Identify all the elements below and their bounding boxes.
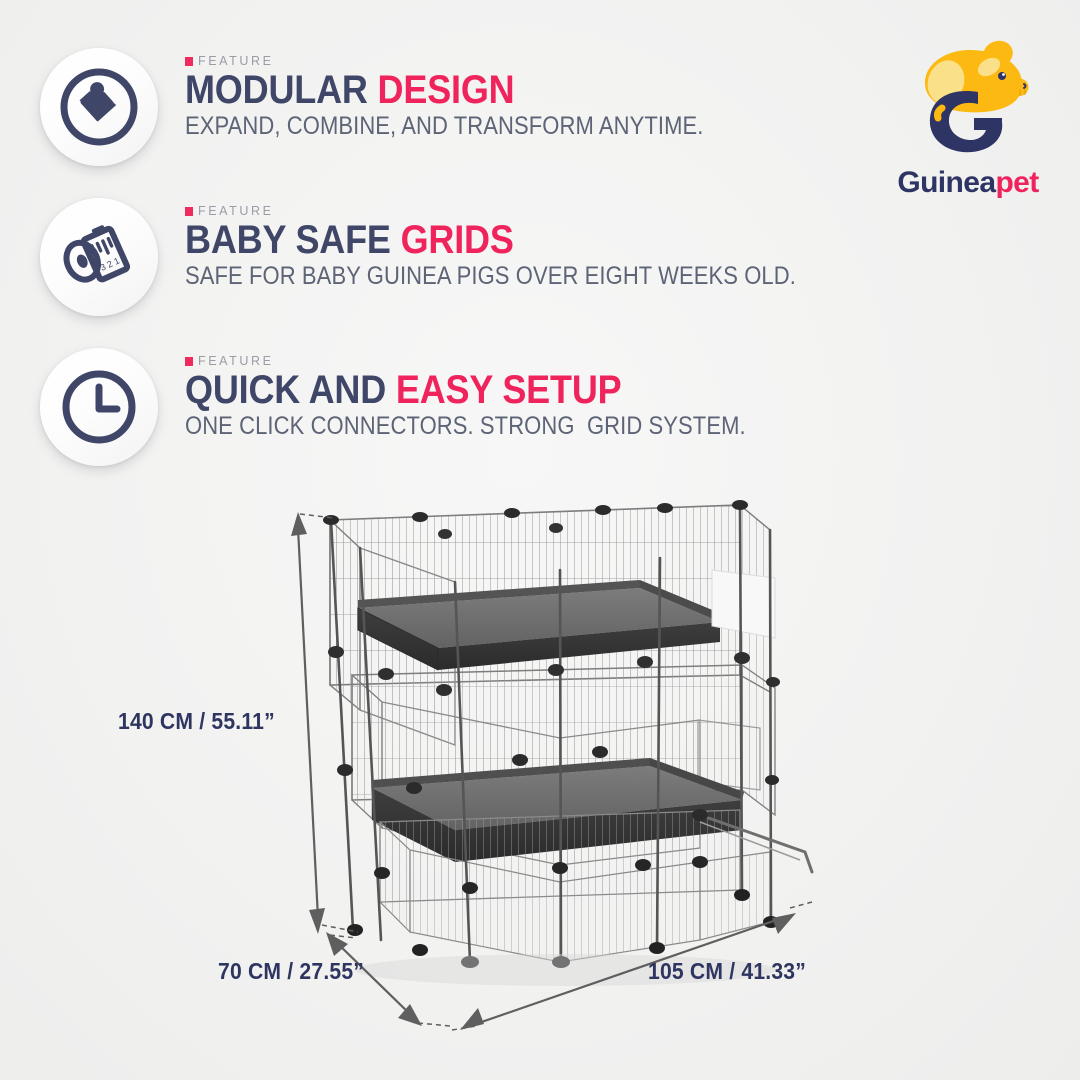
- dimension-label-depth: 70 CM / 27.55”: [218, 958, 364, 985]
- headline-main: MODULAR: [185, 68, 378, 112]
- feature-headline: BABY SAFE GRIDS: [185, 221, 810, 260]
- eyebrow-label: FEATURE: [198, 54, 274, 68]
- eyebrow-square-icon: [185, 207, 193, 216]
- feature-text-block: FEATURE BABY SAFE GRIDS SAFE FOR BABY GU…: [185, 190, 879, 290]
- eyebrow-label: FEATURE: [198, 204, 274, 218]
- feature-headline: QUICK AND EASY SETUP: [185, 371, 758, 410]
- guinea-pig-logo-icon: [898, 34, 1038, 166]
- cage-structure: [323, 500, 812, 986]
- feature-item-quick-easy-setup: FEATURE QUICK AND EASY SETUP ONE CLICK C…: [40, 340, 820, 490]
- feature-text-block: FEATURE MODULAR DESIGN EXPAND, COMBINE, …: [185, 40, 774, 140]
- eyebrow: FEATURE: [185, 204, 879, 218]
- logo-wordmark: Guineapet: [888, 168, 1048, 198]
- product-illustration: [0, 470, 1080, 1080]
- feature-list: FEATURE MODULAR DESIGN EXPAND, COMBINE, …: [40, 40, 820, 490]
- eyebrow: FEATURE: [185, 354, 822, 368]
- headline-main: BABY SAFE: [185, 218, 401, 262]
- headline-main: QUICK AND: [185, 368, 396, 412]
- feature-text-block: FEATURE QUICK AND EASY SETUP ONE CLICK C…: [185, 340, 822, 440]
- headline-accent: EASY SETUP: [396, 368, 622, 412]
- feature-subline: ONE CLICK CONNECTORS. STRONG GRID SYSTEM…: [185, 413, 746, 440]
- eyebrow-square-icon: [185, 57, 193, 66]
- feature-item-modular-design: FEATURE MODULAR DESIGN EXPAND, COMBINE, …: [40, 40, 820, 190]
- eyebrow-label: FEATURE: [198, 354, 274, 368]
- measuring-tape-icon: 3 2 1 0: [40, 198, 158, 316]
- eyebrow-square-icon: [185, 357, 193, 366]
- eyebrow: FEATURE: [185, 54, 774, 68]
- feature-headline: MODULAR DESIGN: [185, 71, 715, 110]
- headline-accent: DESIGN: [378, 68, 515, 112]
- feature-subline: SAFE FOR BABY GUINEA PIGS OVER EIGHT WEE…: [185, 263, 796, 290]
- dimension-label-width: 105 CM / 41.33”: [648, 958, 806, 985]
- headline-accent: GRIDS: [401, 218, 514, 262]
- clock-icon: [40, 348, 158, 466]
- brand-logo: Guineapet: [888, 34, 1048, 198]
- logo-word-primary: Guinea: [897, 166, 995, 199]
- feature-item-baby-safe-grids: 3 2 1 0 FEATURE BABY SAFE GRIDS SAFE FOR…: [40, 190, 820, 340]
- dimension-label-height: 140 CM / 55.11”: [118, 708, 275, 735]
- puzzle-piece-icon: [40, 48, 158, 166]
- feature-subline: EXPAND, COMBINE, AND TRANSFORM ANYTIME.: [185, 113, 703, 140]
- logo-word-accent: pet: [995, 166, 1038, 199]
